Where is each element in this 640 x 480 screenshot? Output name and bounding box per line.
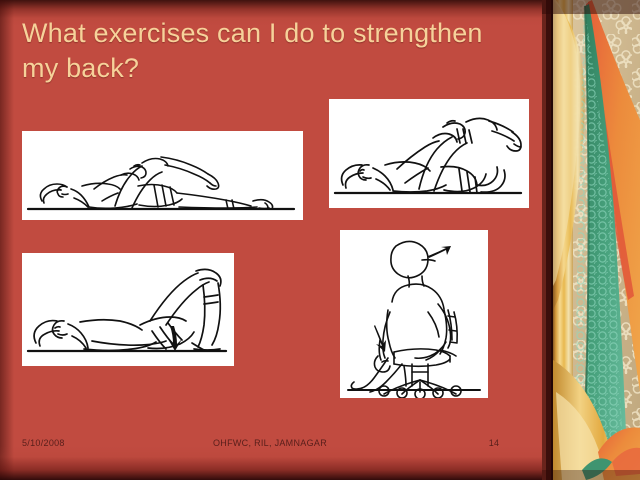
footer-center-text: OHFWC, RIL, JAMNAGAR	[0, 438, 540, 448]
ornate-floral-side-band	[542, 0, 640, 480]
background-left-vignette	[0, 0, 14, 480]
slide-title: What exercises can I do to strengthen my…	[22, 16, 492, 86]
footer-page-number: 14	[470, 438, 518, 448]
image-double-knee-to-chest-stretch[interactable]	[329, 99, 529, 208]
image-pelvic-bridge-exercise[interactable]	[22, 253, 234, 366]
image-seated-chair-posture-exercise[interactable]	[340, 230, 488, 398]
slide-canvas: What exercises can I do to strengthen my…	[0, 0, 640, 480]
image-single-knee-to-chest-stretch[interactable]	[22, 131, 303, 220]
